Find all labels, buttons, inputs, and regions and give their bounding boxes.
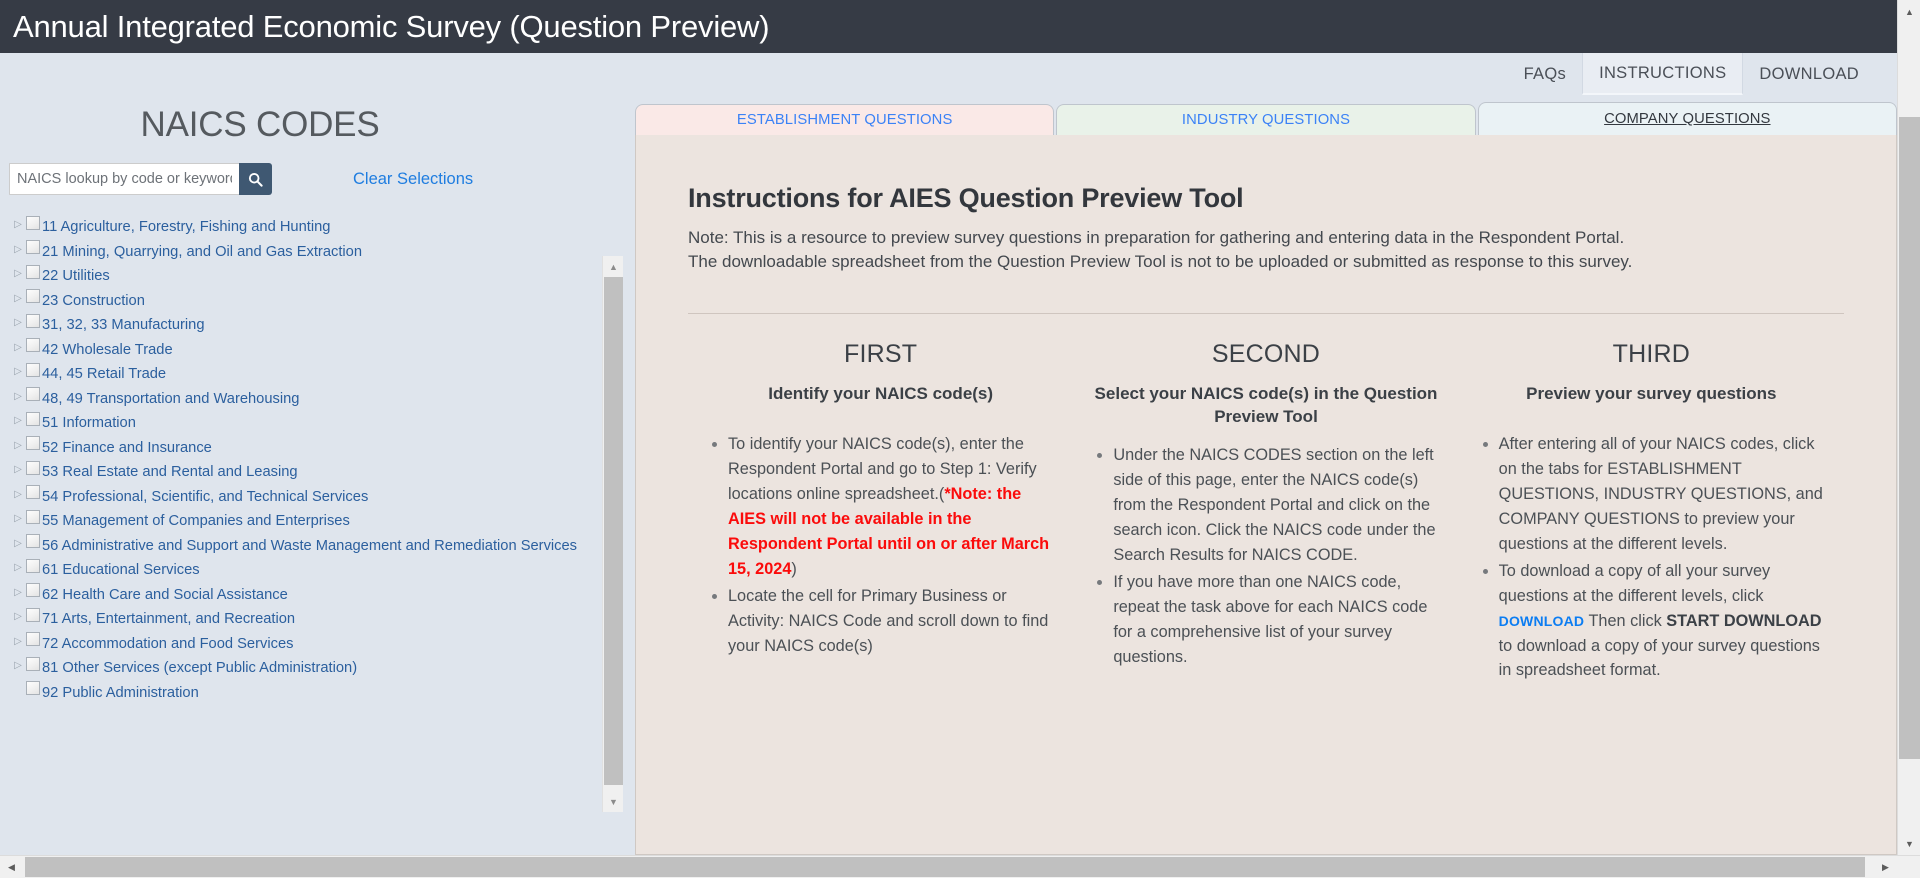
start-download-emphasis: START DOWNLOAD	[1666, 612, 1821, 630]
instruction-step-title: SECOND	[1087, 340, 1444, 369]
expand-triangle-icon[interactable]: ▷	[10, 465, 26, 475]
expand-triangle-icon[interactable]: ▷	[10, 343, 26, 353]
instruction-text: Then click	[1584, 612, 1666, 630]
instruction-text: To download a copy of all your survey qu…	[1499, 562, 1771, 605]
expand-triangle-icon[interactable]: ▷	[10, 514, 26, 524]
instruction-text: Locate the cell for Primary Business or …	[728, 587, 1048, 655]
naics-checkbox[interactable]	[26, 436, 40, 450]
expand-triangle-icon[interactable]: ▷	[10, 220, 26, 230]
naics-panel-heading: NAICS CODES	[0, 105, 640, 145]
naics-tree-row-label: 61 Educational Services	[42, 558, 200, 578]
expand-triangle-icon[interactable]: ▷	[10, 588, 26, 598]
naics-search-row: Clear Selections	[0, 162, 640, 196]
tab-industry-questions-label: INDUSTRY QUESTIONS	[1182, 112, 1350, 128]
naics-tree-row[interactable]: ▷52 Finance and Insurance	[10, 434, 610, 459]
naics-checkbox[interactable]	[26, 534, 40, 548]
instruction-bullet-list: Under the NAICS CODES section on the lef…	[1087, 443, 1444, 669]
naics-tree-row-label: 56 Administrative and Support and Waste …	[42, 534, 577, 554]
naics-tree-row[interactable]: ▷31, 32, 33 Manufacturing	[10, 311, 610, 336]
window-titlebar: Annual Integrated Economic Survey (Quest…	[0, 0, 1897, 53]
naics-checkbox[interactable]	[26, 314, 40, 328]
download-link[interactable]: DOWNLOAD	[1499, 613, 1585, 629]
naics-checkbox[interactable]	[26, 363, 40, 377]
naics-tree-row[interactable]: ▷11 Agriculture, Forestry, Fishing and H…	[10, 213, 610, 238]
naics-tree-row[interactable]: ▷22 Utilities	[10, 262, 610, 287]
instruction-bullet: If you have more than one NAICS code, re…	[1113, 570, 1444, 670]
instructions-note-line-1: Note: This is a resource to preview surv…	[688, 226, 1844, 250]
page-vertical-scroll-thumb[interactable]	[1899, 117, 1920, 759]
expand-triangle-icon[interactable]: ▷	[10, 245, 26, 255]
expand-triangle-icon[interactable]: ▷	[10, 294, 26, 304]
instructions-panel: Instructions for AIES Question Preview T…	[635, 135, 1897, 855]
naics-tree-row[interactable]: ▷44, 45 Retail Trade	[10, 360, 610, 385]
naics-tree-row-label: 44, 45 Retail Trade	[42, 362, 166, 382]
page-scroll-up-arrow[interactable]: ▲	[1898, 0, 1920, 23]
naics-tree: ▷11 Agriculture, Forestry, Fishing and H…	[0, 213, 610, 813]
page-scroll-down-arrow[interactable]: ▼	[1898, 832, 1920, 855]
instruction-step-column: THIRDPreview your survey questionsAfter …	[1459, 340, 1844, 685]
naics-tree-row-label: 62 Health Care and Social Assistance	[42, 583, 288, 603]
tab-industry-questions[interactable]: INDUSTRY QUESTIONS	[1056, 104, 1475, 135]
instructions-heading: Instructions for AIES Question Preview T…	[688, 183, 1844, 214]
naics-checkbox[interactable]	[26, 387, 40, 401]
page-scroll-left-arrow[interactable]: ◀	[0, 856, 23, 878]
naics-tree-row-label: 54 Professional, Scientific, and Technic…	[42, 485, 368, 505]
naics-checkbox[interactable]	[26, 240, 40, 254]
instruction-step-column: SECONDSelect your NAICS code(s) in the Q…	[1073, 340, 1458, 685]
instruction-bullet: To identify your NAICS code(s), enter th…	[728, 432, 1059, 582]
nav-item-instructions-label: INSTRUCTIONS	[1599, 64, 1726, 83]
page-vertical-scrollbar[interactable]: ▲ ▼	[1897, 0, 1920, 855]
tab-establishment-questions[interactable]: ESTABLISHMENT QUESTIONS	[635, 104, 1054, 135]
instruction-text: )	[791, 560, 796, 578]
expand-triangle-icon[interactable]: ▷	[10, 612, 26, 622]
expand-triangle-icon[interactable]: ▷	[10, 637, 26, 647]
naics-tree-row-label: 72 Accommodation and Food Services	[42, 632, 293, 652]
naics-tree-row-label: 21 Mining, Quarrying, and Oil and Gas Ex…	[42, 240, 362, 260]
naics-checkbox[interactable]	[26, 559, 40, 573]
instruction-bullet-list: To identify your NAICS code(s), enter th…	[702, 432, 1059, 658]
naics-tree-row-label: 11 Agriculture, Forestry, Fishing and Hu…	[42, 215, 330, 235]
nav-item-download[interactable]: DOWNLOAD	[1743, 53, 1875, 95]
expand-triangle-icon[interactable]: ▷	[10, 441, 26, 451]
expand-triangle-icon[interactable]: ▷	[10, 563, 26, 573]
naics-tree-scroll-thumb[interactable]	[604, 277, 623, 785]
page-title: Annual Integrated Economic Survey (Quest…	[0, 9, 769, 45]
naics-checkbox[interactable]	[26, 583, 40, 597]
nav-item-faqs[interactable]: FAQs	[1508, 53, 1582, 95]
nav-item-download-label: DOWNLOAD	[1759, 65, 1859, 84]
instructions-divider	[688, 313, 1844, 314]
instruction-step-subtitle: Identify your NAICS code(s)	[702, 383, 1059, 406]
naics-tree-row[interactable]: ▷23 Construction	[10, 287, 610, 312]
tab-company-questions[interactable]: COMPANY QUESTIONS	[1478, 102, 1897, 135]
naics-tree-row-label: 42 Wholesale Trade	[42, 338, 173, 358]
naics-tree-row[interactable]: ▷72 Accommodation and Food Services	[10, 630, 610, 655]
naics-tree-row[interactable]: ▷55 Management of Companies and Enterpri…	[10, 507, 610, 532]
app-root: Annual Integrated Economic Survey (Quest…	[0, 0, 1920, 878]
clear-selections-link[interactable]: Clear Selections	[353, 170, 473, 189]
scrollbar-corner	[1897, 856, 1920, 878]
naics-tree-row[interactable]: ▷92 Public Administration	[10, 679, 610, 704]
instructions-note: Note: This is a resource to preview surv…	[688, 226, 1844, 274]
naics-checkbox[interactable]	[26, 632, 40, 646]
naics-codes-panel: NAICS CODES Clear Selections ▷11 Agricul…	[0, 95, 640, 855]
expand-triangle-icon[interactable]: ▷	[10, 318, 26, 328]
instruction-step-title: FIRST	[702, 340, 1059, 369]
naics-checkbox[interactable]	[26, 657, 40, 671]
instruction-text: to download a copy of your survey questi…	[1499, 637, 1820, 680]
instruction-bullet: After entering all of your NAICS codes, …	[1499, 432, 1830, 557]
naics-tree-row[interactable]: ▷42 Wholesale Trade	[10, 336, 610, 361]
instruction-text: If you have more than one NAICS code, re…	[1113, 573, 1427, 666]
page-horizontal-scroll-thumb[interactable]	[25, 857, 1865, 877]
instruction-step-subtitle: Preview your survey questions	[1473, 383, 1830, 406]
naics-tree-row[interactable]: ▷21 Mining, Quarrying, and Oil and Gas E…	[10, 238, 610, 263]
naics-tree-row-label: 53 Real Estate and Rental and Leasing	[42, 460, 298, 480]
page-horizontal-scrollbar[interactable]: ◀ ▶	[0, 855, 1920, 878]
naics-checkbox[interactable]	[26, 289, 40, 303]
naics-tree-scroll-down-arrow[interactable]: ▼	[603, 791, 624, 812]
naics-tree-row[interactable]: ▷81 Other Services (except Public Admini…	[10, 654, 610, 679]
naics-checkbox[interactable]	[26, 510, 40, 524]
top-navigation: FAQs INSTRUCTIONS DOWNLOAD	[0, 53, 1897, 95]
naics-checkbox[interactable]	[26, 608, 40, 622]
naics-checkbox[interactable]	[26, 338, 40, 352]
naics-tree-row[interactable]: ▷54 Professional, Scientific, and Techni…	[10, 483, 610, 508]
naics-tree-row-label: 48, 49 Transportation and Warehousing	[42, 387, 299, 407]
questions-tablist: ESTABLISHMENT QUESTIONS INDUSTRY QUESTIO…	[635, 102, 1897, 135]
naics-tree-row-label: 52 Finance and Insurance	[42, 436, 212, 456]
naics-tree-row[interactable]: ▷48, 49 Transportation and Warehousing	[10, 385, 610, 410]
naics-tree-row[interactable]: ▷62 Health Care and Social Assistance	[10, 581, 610, 606]
instruction-bullet: Under the NAICS CODES section on the lef…	[1113, 443, 1444, 568]
naics-checkbox[interactable]	[26, 412, 40, 426]
expand-triangle-icon[interactable]: ▷	[10, 661, 26, 671]
expand-triangle-icon[interactable]: ▷	[10, 490, 26, 500]
naics-checkbox[interactable]	[26, 265, 40, 279]
naics-tree-row[interactable]: ▷61 Educational Services	[10, 556, 610, 581]
instructions-note-line-2: The downloadable spreadsheet from the Qu…	[688, 250, 1844, 274]
questions-card: ESTABLISHMENT QUESTIONS INDUSTRY QUESTIO…	[635, 102, 1897, 855]
naics-checkbox[interactable]	[26, 461, 40, 475]
search-icon	[248, 172, 263, 187]
naics-tree-row-label: 55 Management of Companies and Enterpris…	[42, 509, 350, 529]
naics-tree-row-label: 81 Other Services (except Public Adminis…	[42, 656, 357, 676]
expand-triangle-icon[interactable]: ▷	[10, 269, 26, 279]
instruction-step-column: FIRSTIdentify your NAICS code(s)To ident…	[688, 340, 1073, 685]
naics-tree-row[interactable]: ▷71 Arts, Entertainment, and Recreation	[10, 605, 610, 630]
tab-company-questions-label: COMPANY QUESTIONS	[1604, 111, 1770, 127]
naics-checkbox[interactable]	[26, 485, 40, 499]
instruction-text: After entering all of your NAICS codes, …	[1499, 435, 1823, 553]
expand-triangle-icon[interactable]: ▷	[10, 416, 26, 426]
instruction-step-title: THIRD	[1473, 340, 1830, 369]
naics-tree-scrollbar[interactable]: ▲ ▼	[602, 256, 623, 812]
instruction-steps: FIRSTIdentify your NAICS code(s)To ident…	[688, 340, 1844, 685]
naics-tree-row-label: 23 Construction	[42, 289, 145, 309]
naics-tree-row-label: 22 Utilities	[42, 264, 110, 284]
naics-tree-row-label: 92 Public Administration	[42, 681, 199, 701]
instruction-bullet: To download a copy of all your survey qu…	[1499, 559, 1830, 684]
naics-checkbox[interactable]	[26, 681, 40, 695]
naics-tree-row[interactable]: ▷56 Administrative and Support and Waste…	[10, 532, 610, 557]
naics-tree-row[interactable]: ▷51 Information	[10, 409, 610, 434]
naics-tree-row-label: 31, 32, 33 Manufacturing	[42, 313, 205, 333]
naics-checkbox[interactable]	[26, 216, 40, 230]
nav-item-instructions[interactable]: INSTRUCTIONS	[1582, 53, 1743, 95]
instruction-step-subtitle: Select your NAICS code(s) in the Questio…	[1087, 383, 1444, 429]
instruction-bullet: Locate the cell for Primary Business or …	[728, 584, 1059, 659]
page-scroll-right-arrow[interactable]: ▶	[1874, 856, 1897, 878]
nav-item-faqs-label: FAQs	[1524, 65, 1566, 84]
expand-triangle-icon[interactable]: ▷	[10, 367, 26, 377]
naics-tree-scroll-up-arrow[interactable]: ▲	[603, 256, 624, 277]
naics-search-input[interactable]	[9, 163, 239, 195]
instruction-bullet-list: After entering all of your NAICS codes, …	[1473, 432, 1830, 683]
tab-establishment-questions-label: ESTABLISHMENT QUESTIONS	[737, 112, 953, 128]
instruction-text: Under the NAICS CODES section on the lef…	[1113, 446, 1435, 564]
naics-search-button[interactable]	[239, 163, 272, 195]
expand-triangle-icon[interactable]: ▷	[10, 539, 26, 549]
naics-tree-row-label: 71 Arts, Entertainment, and Recreation	[42, 607, 295, 627]
naics-tree-row-label: 51 Information	[42, 411, 136, 431]
naics-tree-row[interactable]: ▷53 Real Estate and Rental and Leasing	[10, 458, 610, 483]
expand-triangle-icon[interactable]: ▷	[10, 392, 26, 402]
